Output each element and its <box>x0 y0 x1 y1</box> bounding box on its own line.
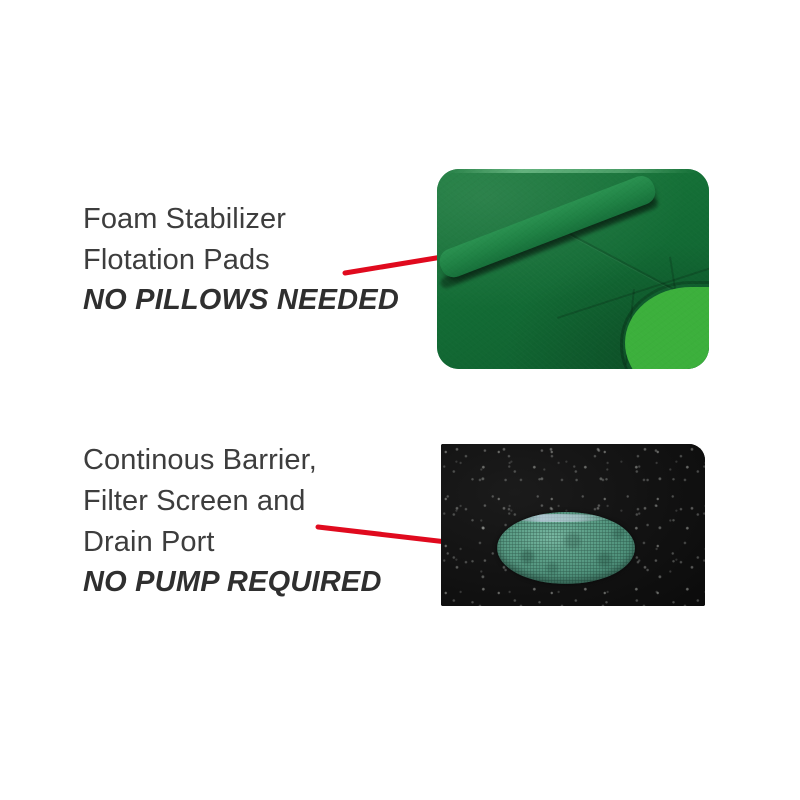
callout-foam-line-2: Flotation Pads <box>83 240 399 281</box>
callout-foam-line-1: Foam Stabilizer <box>83 199 399 240</box>
green-cover-panel-photo <box>437 169 709 369</box>
panel-photo-grain <box>437 169 709 369</box>
callout-drain-line-1: Continous Barrier, <box>83 440 382 481</box>
drain-port-rim-highlight <box>505 514 610 522</box>
callout-drain-emphasis: NO PUMP REQUIRED <box>83 563 382 602</box>
callout-drain-line-2: Filter Screen and <box>83 481 382 522</box>
filter-screen-mottle <box>497 512 635 584</box>
callout-drain-port: Continous Barrier, Filter Screen and Dra… <box>83 440 382 602</box>
dark-drain-port-photo <box>441 444 705 606</box>
drain-port-oval <box>497 512 635 584</box>
illustration-canvas: Foam Stabilizer Flotation Pads NO PILLOW… <box>0 0 800 800</box>
callout-foam-emphasis: NO PILLOWS NEEDED <box>83 281 399 320</box>
callout-foam-stabilizer: Foam Stabilizer Flotation Pads NO PILLOW… <box>83 199 399 320</box>
callout-drain-line-3: Drain Port <box>83 522 382 563</box>
